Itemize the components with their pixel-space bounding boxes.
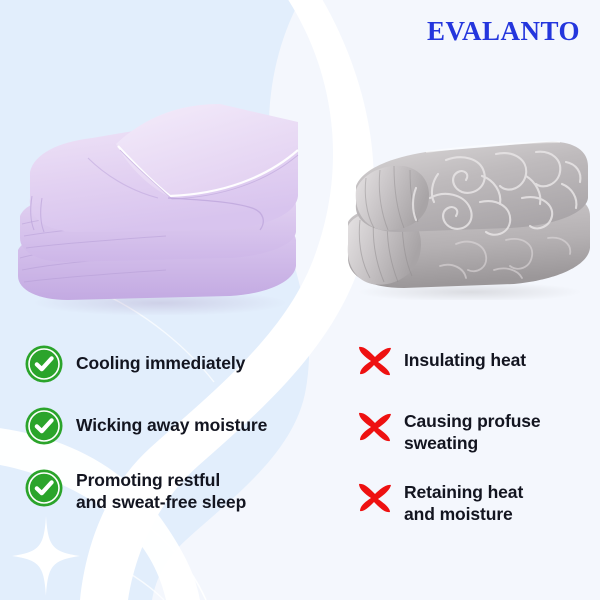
cons-item-label: Causing profuse sweating	[404, 410, 541, 455]
brand-logo: EVALANTO	[360, 16, 580, 47]
cons-list: Insulating heat Causing profuse sweating…	[356, 344, 600, 552]
pros-item: Wicking away moisture	[24, 406, 294, 446]
pros-item: Promoting restful and sweat-free sleep	[24, 468, 294, 514]
pros-list: Cooling immediately Wicking away moistur…	[24, 344, 294, 536]
cons-item: Retaining heat and moisture	[356, 481, 600, 526]
cross-mark-icon	[356, 344, 394, 378]
cross-mark-icon	[356, 410, 394, 444]
check-circle-icon	[24, 468, 64, 508]
pros-item-label: Promoting restful and sweat-free sleep	[76, 468, 246, 514]
cons-item-label: Retaining heat and moisture	[404, 481, 523, 526]
product-image-plush-blanket	[330, 140, 592, 300]
check-circle-icon	[24, 344, 64, 384]
pros-item-label: Wicking away moisture	[76, 406, 267, 436]
infographic-canvas: EVALANTO	[0, 0, 600, 600]
cons-item: Insulating heat	[356, 344, 600, 384]
pros-item: Cooling immediately	[24, 344, 294, 384]
check-circle-icon	[24, 406, 64, 446]
cons-item: Causing profuse sweating	[356, 410, 600, 455]
cons-item-label: Insulating heat	[404, 344, 526, 371]
product-image-cooling-comforter	[8, 100, 308, 315]
pros-item-label: Cooling immediately	[76, 344, 245, 374]
cross-mark-icon	[356, 481, 394, 515]
